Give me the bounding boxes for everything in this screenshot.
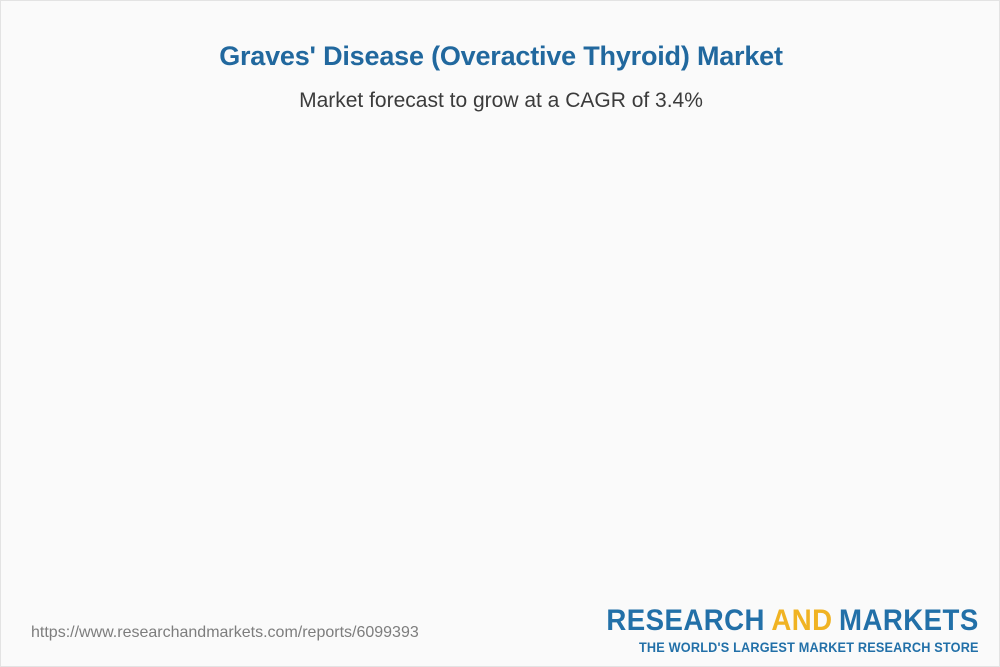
brand-research-text: RESEARCH — [607, 604, 766, 637]
report-url-link[interactable]: https://www.researchandmarkets.com/repor… — [31, 624, 419, 642]
brand-wordmark: RESEARCHANDMARKETS — [607, 605, 979, 637]
brand-and-text: AND — [772, 604, 833, 637]
brand-logo[interactable]: RESEARCHANDMARKETS THE WORLD'S LARGEST M… — [574, 605, 979, 655]
chart-canvas: Graves' Disease (Overactive Thyroid) Mar… — [0, 0, 1000, 667]
brand-markets-text: MARKETS — [839, 604, 979, 637]
brand-tagline: THE WORLD'S LARGEST MARKET RESEARCH STOR… — [599, 640, 979, 655]
plot-area: USD 397.9 Million — [1, 1, 1000, 601]
footer: https://www.researchandmarkets.com/repor… — [1, 600, 1000, 666]
